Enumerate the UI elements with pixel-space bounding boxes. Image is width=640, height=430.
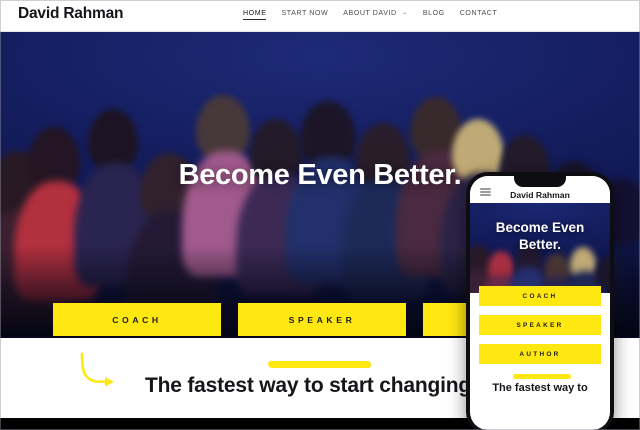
nav-item-about-david[interactable]: ABOUT DAVID ⌄	[343, 9, 408, 20]
tagline-text: The fastest way to start changing	[145, 374, 471, 398]
site-logo[interactable]: David Rahman	[18, 5, 123, 23]
curved-arrow-icon	[76, 351, 122, 393]
tagline-highlight-bar	[268, 361, 371, 368]
nav-item-start-now[interactable]: START NOW	[281, 9, 328, 20]
phone-tagline-text: The fastest way to	[470, 382, 610, 394]
phone-hero-headline: Become Even Better.	[470, 219, 610, 253]
phone-hero-headline-line2: Better.	[470, 236, 610, 253]
phone-cta-button-speaker[interactable]: SPEAKER	[479, 315, 601, 335]
nav-item-contact[interactable]: CONTACT	[460, 9, 498, 20]
phone-mockup: Become Even Better. COACH SPEAKER AUTHOR…	[466, 172, 614, 430]
nav-menu: HOME START NOW ABOUT DAVID ⌄ BLOG CONTAC…	[243, 9, 497, 20]
phone-frame: Become Even Better. COACH SPEAKER AUTHOR…	[466, 172, 614, 430]
phone-cta-button-author[interactable]: AUTHOR	[479, 344, 601, 364]
nav-item-blog[interactable]: BLOG	[423, 9, 445, 20]
phone-cta-row: COACH SPEAKER AUTHOR	[470, 286, 610, 364]
phone-hero-headline-line1: Become Even	[470, 219, 610, 236]
webpage-screenshot: Become Even Better. COACH SPEAKER AUTHOR…	[0, 0, 640, 430]
phone-screen: Become Even Better. COACH SPEAKER AUTHOR…	[470, 176, 610, 430]
nav-item-home[interactable]: HOME	[243, 9, 266, 20]
chevron-down-icon: ⌄	[402, 9, 408, 16]
cta-button-coach[interactable]: COACH	[53, 303, 221, 336]
phone-notch	[514, 176, 566, 187]
site-navbar: David Rahman HOME START NOW ABOUT DAVID …	[0, 0, 640, 32]
phone-tagline-highlight-bar	[513, 374, 571, 379]
nav-item-blog-label: BLOG	[423, 9, 445, 17]
phone-site-logo[interactable]: David Rahman	[470, 190, 610, 200]
phone-cta-button-coach[interactable]: COACH	[479, 286, 601, 306]
phone-hero-section: Become Even Better.	[470, 203, 610, 293]
nav-item-about-david-label: ABOUT DAVID	[343, 9, 396, 17]
nav-item-start-now-label: START NOW	[281, 9, 328, 17]
nav-item-contact-label: CONTACT	[460, 9, 498, 17]
nav-item-home-label: HOME	[243, 9, 266, 17]
cta-button-speaker[interactable]: SPEAKER	[238, 303, 406, 336]
